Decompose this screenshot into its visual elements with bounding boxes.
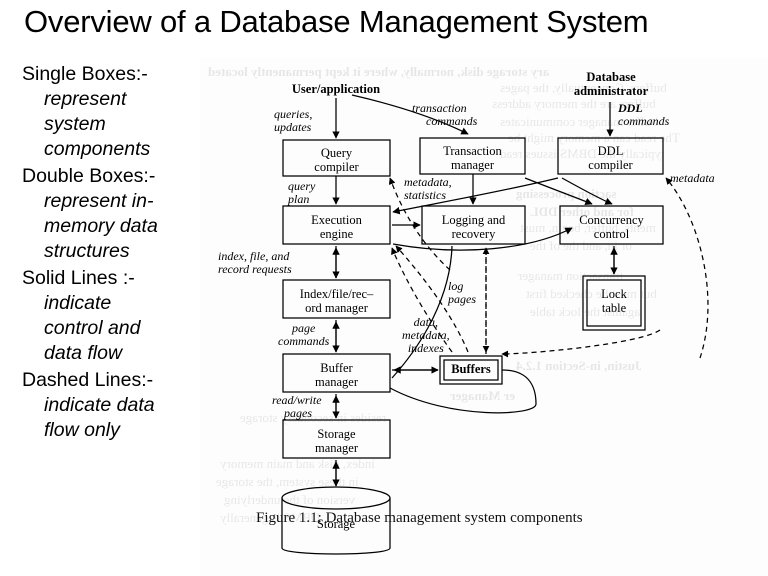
edge-label-metadata-statistics: metadata, statistics <box>404 176 452 202</box>
label-line-2: record requests <box>218 263 292 276</box>
edge-label-log-pages: log pages <box>448 280 476 306</box>
label-line-2: compiler <box>283 160 390 174</box>
figure-caption: Figure 1.1: Database management system c… <box>256 510 756 527</box>
label-line-2: manager <box>420 158 525 172</box>
label-line-1: Buffer <box>283 361 390 375</box>
edge-label-page-commands: page commands <box>278 322 329 348</box>
label-line-1: Buffers <box>440 362 502 376</box>
legend-def-dashed-line2: flow only <box>22 418 202 443</box>
label-line-1: Transaction <box>420 144 525 158</box>
legend-def-single-line2: system <box>22 112 202 137</box>
edge-ddl-compiler-to-concurrency-control <box>562 178 612 204</box>
label-line-1: metadata <box>670 172 715 185</box>
label-line-2: engine <box>283 227 390 241</box>
label-line-2: manager <box>283 441 390 455</box>
legend-def-solid-line1: indicate <box>22 291 202 316</box>
legend-def-double-line2: memory data <box>22 214 202 239</box>
label-line-2: commands <box>412 115 477 128</box>
label-line-1: Concurrency <box>560 213 663 227</box>
label-lock-table: Lock table <box>583 287 645 315</box>
edge-concurrency-control-to-buffers <box>502 330 660 354</box>
label-line-3: indexes <box>402 342 450 355</box>
edge-label-transaction-commands: transaction commands <box>412 102 477 128</box>
legend-def-single-line1: represent <box>22 87 202 112</box>
label-line-1: Storage <box>283 427 390 441</box>
legend-def-solid-line2: control and <box>22 316 202 341</box>
label-line-1: Index/file/rec– <box>283 287 390 301</box>
slide-root: Overview of a Database Management System… <box>0 0 768 576</box>
legend-term-dashed: Dashed Lines:- <box>22 368 202 393</box>
label-line-2: administrator <box>558 84 664 98</box>
dbms-architecture-figure: ary storage disk, normally, where it kep… <box>200 58 768 576</box>
edge-label-query-plan: query plan <box>288 180 315 206</box>
label-database-administrator: Database administrator <box>558 70 664 98</box>
legend-term-single: Single Boxes:- <box>22 62 202 87</box>
label-line-2: ord manager <box>283 301 390 315</box>
label-line-1: Lock <box>583 287 645 301</box>
label-ddl-compiler: DDL compiler <box>558 144 663 172</box>
edge-label-read-write-pages: read/write pages <box>272 394 322 420</box>
legend-item-solid-lines: Solid Lines :- indicate control and data… <box>22 266 202 366</box>
label-line-2: pages <box>448 293 476 306</box>
legend-def-dashed-line1: indicate data <box>22 393 202 418</box>
label-transaction-manager: Transaction manager <box>420 144 525 172</box>
label-line-2: manager <box>283 375 390 389</box>
label-user-application: User/application <box>276 82 396 96</box>
edge-label-ddl-commands: DDL commands <box>618 102 669 128</box>
legend-def-single-line3: components <box>22 137 202 162</box>
cylinder-top <box>282 487 390 509</box>
label-execution-engine: Execution engine <box>283 213 390 241</box>
label-line-2: recovery <box>422 227 525 241</box>
edge-label-data-metadata-indexes: data, metadata, indexes <box>402 316 450 355</box>
label-line-2: updates <box>274 121 312 134</box>
legend-def-double-line3: structures <box>22 239 202 264</box>
edge-label-index-file-record-requests: index, file, and record requests <box>218 250 292 276</box>
legend-term-double: Double Boxes:- <box>22 164 202 189</box>
edge-right-curve-to-buffer-manager <box>390 370 536 413</box>
label-buffer-manager: Buffer manager <box>283 361 390 389</box>
label-line-1: Database <box>558 70 664 84</box>
label-line-1: Execution <box>283 213 390 227</box>
label-line-2: plan <box>288 193 315 206</box>
label-query-compiler: Query compiler <box>283 146 390 174</box>
label-line-2: compiler <box>558 158 663 172</box>
edge-logging-to-buffer-manager <box>392 246 452 378</box>
legend-item-double-boxes: Double Boxes:- represent in- memory data… <box>22 164 202 264</box>
edge-label-queries-updates: queries, updates <box>274 108 312 134</box>
label-line-1: Query <box>283 146 390 160</box>
label-line-2: commands <box>278 335 329 348</box>
label-concurrency-control: Concurrency control <box>560 213 663 241</box>
legend-term-solid: Solid Lines :- <box>22 266 202 291</box>
label-line-2: pages <box>272 407 322 420</box>
label-line-1: User/application <box>276 82 396 96</box>
legend-item-dashed-lines: Dashed Lines:- indicate data flow only <box>22 368 202 443</box>
label-line-2: commands <box>618 115 669 128</box>
label-line-1: Logging and <box>422 213 525 227</box>
label-buffers: Buffers <box>440 362 502 376</box>
edge-metadata-to-ddl-compiler <box>666 178 708 358</box>
label-index-file-record-manager: Index/file/rec– ord manager <box>283 287 390 315</box>
page-title: Overview of a Database Management System <box>24 4 754 40</box>
label-storage-manager: Storage manager <box>283 427 390 455</box>
diagram-canvas <box>200 58 768 576</box>
edge-label-metadata: metadata <box>670 172 715 185</box>
legend-item-single-boxes: Single Boxes:- represent system componen… <box>22 62 202 162</box>
legend-list: Single Boxes:- represent system componen… <box>22 62 202 445</box>
legend-def-solid-line3: data flow <box>22 341 202 366</box>
label-line-2: statistics <box>404 189 452 202</box>
label-line-1: DDL <box>558 144 663 158</box>
label-line-2: table <box>583 301 645 315</box>
edge-transaction-manager-to-concurrency <box>525 178 592 204</box>
label-logging-recovery: Logging and recovery <box>422 213 525 241</box>
legend-def-double-line1: represent in- <box>22 189 202 214</box>
label-line-2: control <box>560 227 663 241</box>
